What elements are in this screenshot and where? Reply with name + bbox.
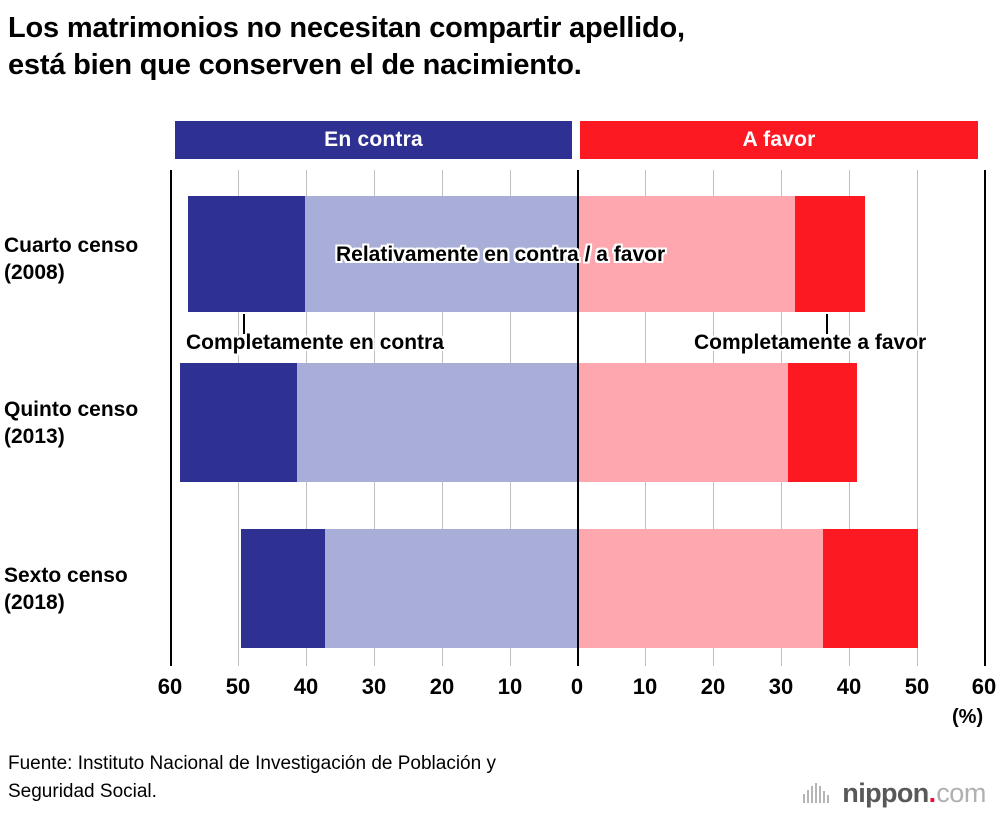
legend-en-contra: En contra — [175, 121, 572, 159]
tick-label-right-30: 30 — [769, 674, 793, 700]
logo-name: nippon — [842, 778, 928, 809]
category-label-line-1: Cuarto censo — [4, 232, 164, 259]
segment-relativamente-en-contra — [297, 363, 577, 482]
segment-relativamente-en-contra — [325, 529, 577, 648]
gridline-left-60 — [170, 170, 172, 666]
axis-unit-label: (%) — [952, 706, 983, 729]
tick-label-right-60: 60 — [972, 674, 996, 700]
segment-relativamente-a-favor — [577, 529, 823, 648]
tick-label-left-10: 10 — [498, 674, 522, 700]
legend-a-favor-label: A favor — [743, 128, 816, 152]
logo-tld: com — [936, 778, 986, 809]
annotation-relativamente: Relativamente en contra / a favor — [336, 243, 665, 267]
segment-completamente-a-favor — [823, 529, 918, 648]
category-label-sexto-censo: Sexto censo (2018) — [4, 562, 164, 617]
tick-label-left-40: 40 — [294, 674, 318, 700]
category-label-line-2: (2018) — [4, 589, 164, 616]
gridline-right-60 — [984, 170, 986, 666]
logo-dot: . — [929, 778, 937, 809]
legend-a-favor: A favor — [580, 121, 978, 159]
segment-completamente-en-contra — [241, 529, 325, 648]
segment-relativamente-a-favor — [577, 363, 788, 482]
category-label-line-1: Sexto censo — [4, 562, 164, 589]
category-label-quinto-censo: Quinto censo (2013) — [4, 396, 164, 451]
annotation-completamente-en-contra: Completamente en contra — [186, 331, 444, 355]
tick-label-zero: 0 — [571, 674, 583, 700]
tick-label-left-30: 30 — [362, 674, 386, 700]
segment-completamente-a-favor — [795, 196, 865, 312]
segment-completamente-a-favor — [788, 363, 857, 482]
segment-completamente-en-contra — [188, 196, 305, 312]
segment-completamente-en-contra — [180, 363, 297, 482]
source-note: Fuente: Instituto Nacional de Investigac… — [8, 750, 768, 805]
tick-label-right-50: 50 — [905, 674, 929, 700]
tick-label-left-50: 50 — [226, 674, 250, 700]
category-label-line-1: Quinto censo — [4, 396, 164, 423]
category-label-cuarto-censo: Cuarto censo (2008) — [4, 232, 164, 287]
legend-en-contra-label: En contra — [324, 128, 423, 152]
tick-label-left-60: 60 — [158, 674, 182, 700]
soundwave-icon — [803, 783, 831, 803]
nippon-logo: nippon . com — [803, 778, 986, 808]
category-label-line-2: (2008) — [4, 259, 164, 286]
category-label-line-2: (2013) — [4, 423, 164, 450]
source-line-1: Fuente: Instituto Nacional de Investigac… — [8, 750, 768, 778]
tick-label-right-10: 10 — [633, 674, 657, 700]
tick-label-right-40: 40 — [837, 674, 861, 700]
tick-label-right-20: 20 — [701, 674, 725, 700]
annotation-completamente-a-favor: Completamente a favor — [694, 331, 926, 355]
diverging-bar-chart: En contra A favor Cuarto censo (2008) — [0, 0, 1000, 816]
tick-label-left-20: 20 — [430, 674, 454, 700]
source-line-2: Seguridad Social. — [8, 778, 768, 806]
